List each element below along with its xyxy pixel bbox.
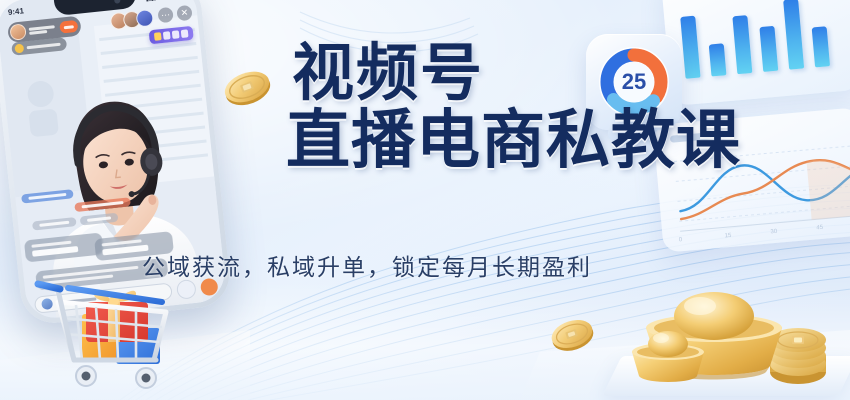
gold-ingot-icon (622, 278, 842, 386)
gold-coin-icon (218, 58, 276, 116)
page-title-line1: 视频号 (286, 44, 756, 104)
status-time: 9:41 (7, 6, 24, 17)
svg-text:0: 0 (679, 237, 684, 243)
page-subtitle: 公域获流，私域升单，锁定每月长期盈利 (142, 248, 592, 282)
signal-bars-icon (146, 0, 156, 1)
avatar (135, 9, 154, 28)
svg-text:45: 45 (816, 225, 824, 232)
svg-text:15: 15 (725, 233, 733, 240)
page-title-line2: 直播电商私教课 (286, 110, 756, 171)
gold-coin-icon (544, 306, 600, 362)
host-name-placeholder (29, 25, 56, 35)
headline-block: 视频号 直播电商私教课 (286, 44, 756, 171)
follow-button[interactable] (59, 20, 78, 34)
crown-icon (14, 44, 24, 54)
svg-text:30: 30 (770, 229, 778, 236)
promo-banner: 015 3045 50 25 9:41 (0, 0, 850, 400)
avatar (9, 23, 27, 41)
shopping-cart-icon (34, 272, 194, 394)
